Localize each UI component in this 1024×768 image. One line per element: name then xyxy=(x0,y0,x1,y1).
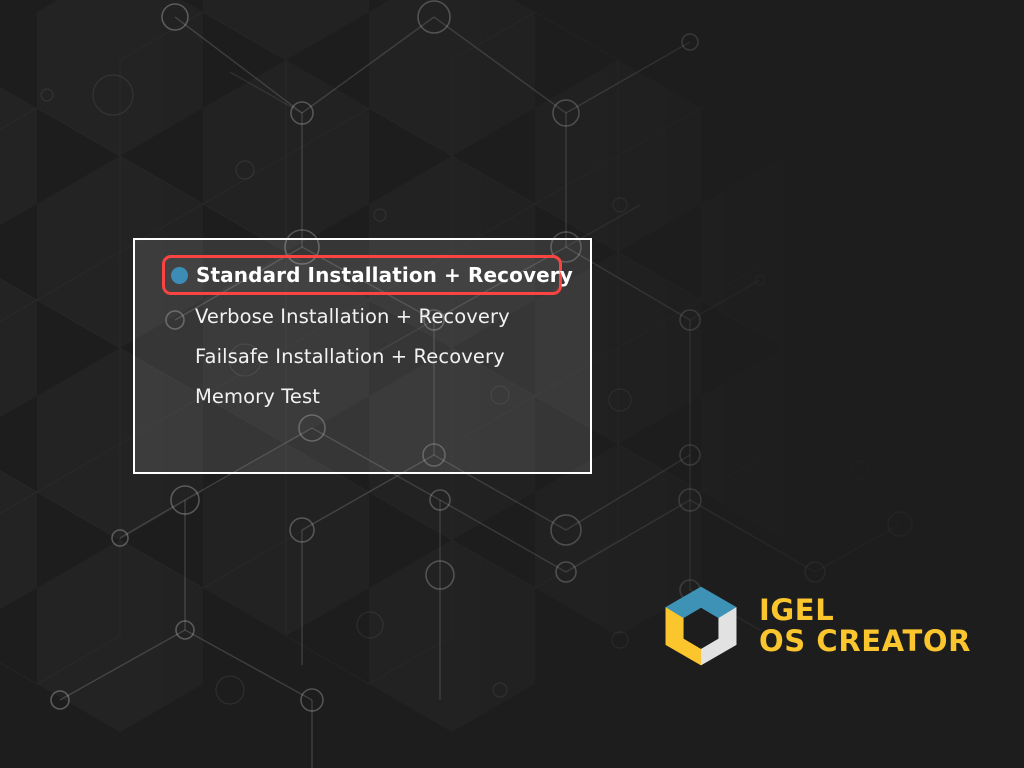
boot-menu-item-label: Verbose Installation + Recovery xyxy=(195,307,510,327)
boot-menu-item-label: Failsafe Installation + Recovery xyxy=(195,347,505,367)
igel-hexagon-logo-icon xyxy=(661,585,741,667)
boot-menu-panel: Standard Installation + Recovery Verbose… xyxy=(133,238,592,474)
brand-line-igel: IGEL xyxy=(759,595,971,626)
igel-wordmark: IGEL OS CREATOR xyxy=(759,595,971,656)
brand-line-os-creator: OS CREATOR xyxy=(759,626,971,657)
boot-menu-item-memory-test[interactable]: Memory Test xyxy=(162,380,320,414)
boot-screen: Standard Installation + Recovery Verbose… xyxy=(0,0,1024,768)
boot-menu-item-failsafe-installation[interactable]: Failsafe Installation + Recovery xyxy=(162,340,505,374)
boot-menu-item-verbose-installation[interactable]: Verbose Installation + Recovery xyxy=(162,300,510,334)
boot-menu-item-label: Memory Test xyxy=(195,387,320,407)
boot-menu-item-label: Standard Installation + Recovery xyxy=(196,265,573,285)
boot-menu-item-standard-installation[interactable]: Standard Installation + Recovery xyxy=(162,255,562,295)
boot-menu-list: Standard Installation + Recovery Verbose… xyxy=(135,240,590,472)
selection-dot-icon xyxy=(171,267,188,284)
igel-branding: IGEL OS CREATOR xyxy=(661,585,966,667)
